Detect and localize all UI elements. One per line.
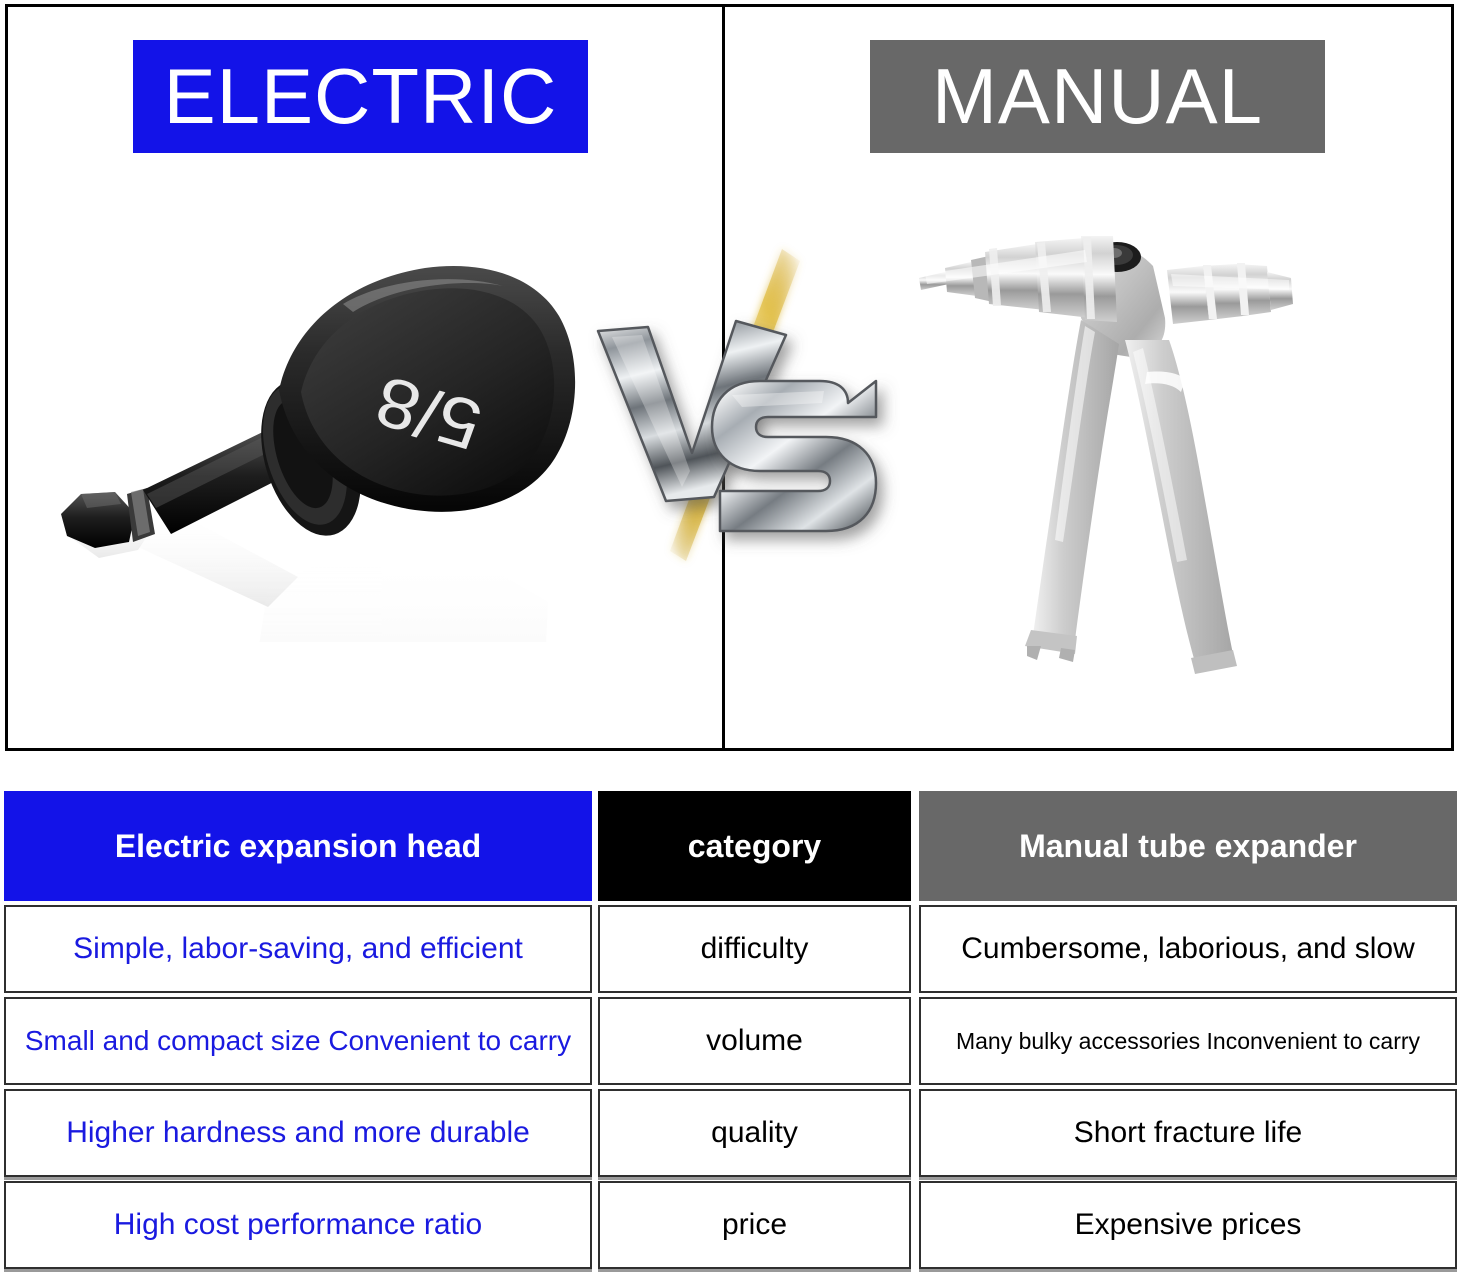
cell-electric-difficulty: Simple, labor-saving, and efficient <box>4 905 592 993</box>
comparison-table: Electric expansion head category Manual … <box>4 791 1457 1281</box>
electric-banner-label: ELECTRIC <box>133 40 588 153</box>
table-row: High cost performance ratio price Expens… <box>4 1181 1457 1269</box>
product-comparison-panel: ELECTRIC <box>5 4 1454 751</box>
manual-tube-expander-image <box>885 222 1315 682</box>
cell-electric-price: High cost performance ratio <box>4 1181 592 1269</box>
cell-manual-difficulty: Cumbersome, laborious, and slow <box>919 905 1457 993</box>
table-row: Higher hardness and more durable quality… <box>4 1089 1457 1177</box>
cell-manual-quality: Short fracture life <box>919 1089 1457 1177</box>
electric-product-pane: ELECTRIC <box>8 7 722 748</box>
table-row: Simple, labor-saving, and efficient diff… <box>4 905 1457 993</box>
header-manual-tube-expander: Manual tube expander <box>919 791 1457 901</box>
cell-electric-quality: Higher hardness and more durable <box>4 1089 592 1177</box>
manual-banner-label: MANUAL <box>870 40 1325 153</box>
cell-category-volume: volume <box>598 997 911 1085</box>
header-category: category <box>598 791 911 901</box>
cell-category-quality: quality <box>598 1089 911 1177</box>
cell-category-difficulty: difficulty <box>598 905 911 993</box>
table-row: Small and compact size Convenient to car… <box>4 997 1457 1085</box>
electric-expansion-head-image: 5/8 <box>43 242 603 642</box>
table-header-row: Electric expansion head category Manual … <box>4 791 1457 901</box>
cell-electric-volume: Small and compact size Convenient to car… <box>4 997 592 1085</box>
manual-product-pane: MANUAL <box>722 7 1451 748</box>
cell-category-price: price <box>598 1181 911 1269</box>
cell-manual-price: Expensive prices <box>919 1181 1457 1269</box>
header-electric-expansion-head: Electric expansion head <box>4 791 592 901</box>
cell-manual-volume: Many bulky accessories Inconvenient to c… <box>919 997 1457 1085</box>
